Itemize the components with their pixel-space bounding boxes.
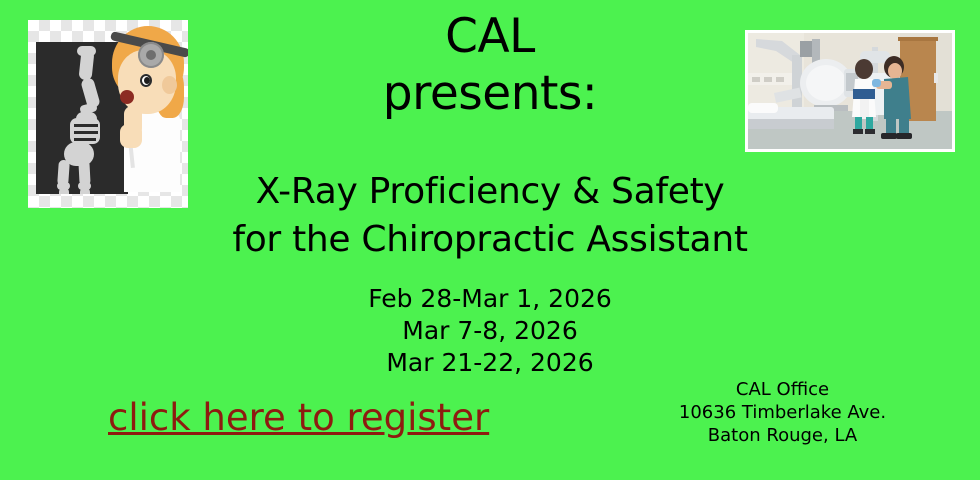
session-date-2: Mar 7-8, 2026 xyxy=(0,315,980,347)
course-title-line-2: for the Chiropractic Assistant xyxy=(0,216,980,264)
address-line-2: 10636 Timberlake Ave. xyxy=(635,401,930,424)
course-title: X-Ray Proficiency & Safety for the Chiro… xyxy=(0,168,980,264)
office-address: CAL Office 10636 Timberlake Ave. Baton R… xyxy=(635,378,930,448)
register-link[interactable]: click here to register xyxy=(108,399,489,436)
flyer-canvas: CAL presents: X-Ray Proficiency & Safety… xyxy=(0,0,980,480)
bone-rib-gap xyxy=(74,124,98,127)
session-dates: Feb 28-Mar 1, 2026 Mar 7-8, 2026 Mar 21-… xyxy=(0,283,980,378)
course-title-line-1: X-Ray Proficiency & Safety xyxy=(0,168,980,216)
session-date-3: Mar 21-22, 2026 xyxy=(0,347,980,379)
address-line-1: CAL Office xyxy=(635,378,930,401)
bone-rib-gap xyxy=(74,138,96,141)
headline-line-1: CAL xyxy=(0,8,980,65)
doctor-hand xyxy=(120,124,142,148)
headline-line-2: presents: xyxy=(0,65,980,122)
address-line-3: Baton Rouge, LA xyxy=(635,424,930,447)
bone-rib-gap xyxy=(74,131,98,134)
session-date-1: Feb 28-Mar 1, 2026 xyxy=(0,283,980,315)
page-title: CAL presents: xyxy=(0,8,980,123)
